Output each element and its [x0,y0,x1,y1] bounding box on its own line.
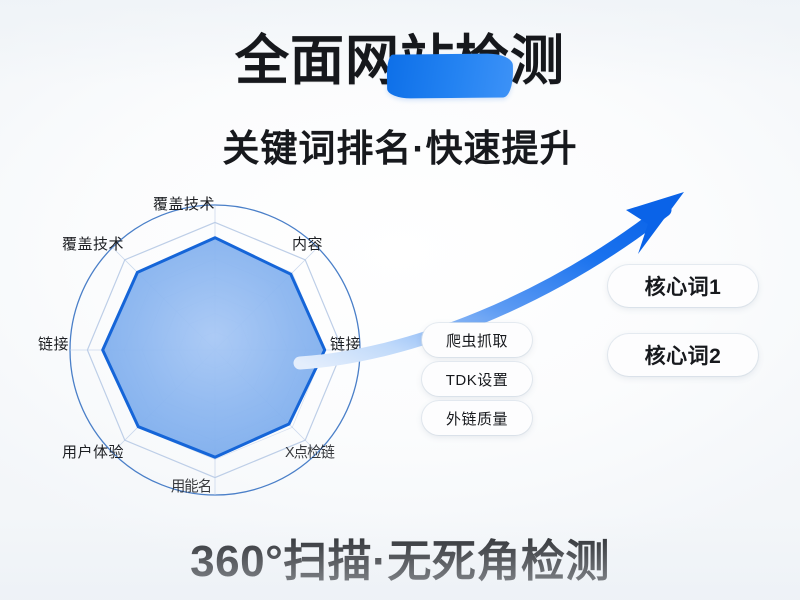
radar-label-upper-left: 覆盖技术 [62,233,124,254]
pill-keyword-1[interactable]: 核心词1 [608,265,758,307]
pill-crawl[interactable]: 爬虫抓取 [422,323,532,357]
pill-keyword-2[interactable]: 核心词2 [608,334,758,376]
arrow-head [626,192,684,254]
radar-label-lower-left: 用户体验 [62,441,124,462]
radar-label-lower-right: X点检链 [285,441,334,462]
pill-tdk[interactable]: TDK设置 [422,362,532,396]
radar-label-top: 覆盖技术 [153,193,215,214]
radar-label-left: 链接 [38,333,69,354]
radar-label-upper-right: 内容 [292,233,323,254]
title-highlight-brush [387,53,513,98]
radar-label-right: 链接 [330,333,361,354]
page-title: 全面网站检测 [235,32,565,91]
radar-label-bottom: 用能名 [171,475,211,496]
pill-external-link-quality[interactable]: 外链质量 [422,401,532,435]
page-footer-title: 360°扫描·无死角检测 [0,525,800,589]
poster-root: 全面网站检测 关键词排名·快速提升 覆盖技术 内容 链接 X点检链 用能名 用户… [0,0,800,600]
radar-chart: 覆盖技术 内容 链接 X点检链 用能名 用户体验 链接 覆盖技术 [30,185,400,515]
page-subtitle: 关键词排名·快速提升 [0,118,800,172]
title-block: 全面网站检测 [0,32,800,91]
